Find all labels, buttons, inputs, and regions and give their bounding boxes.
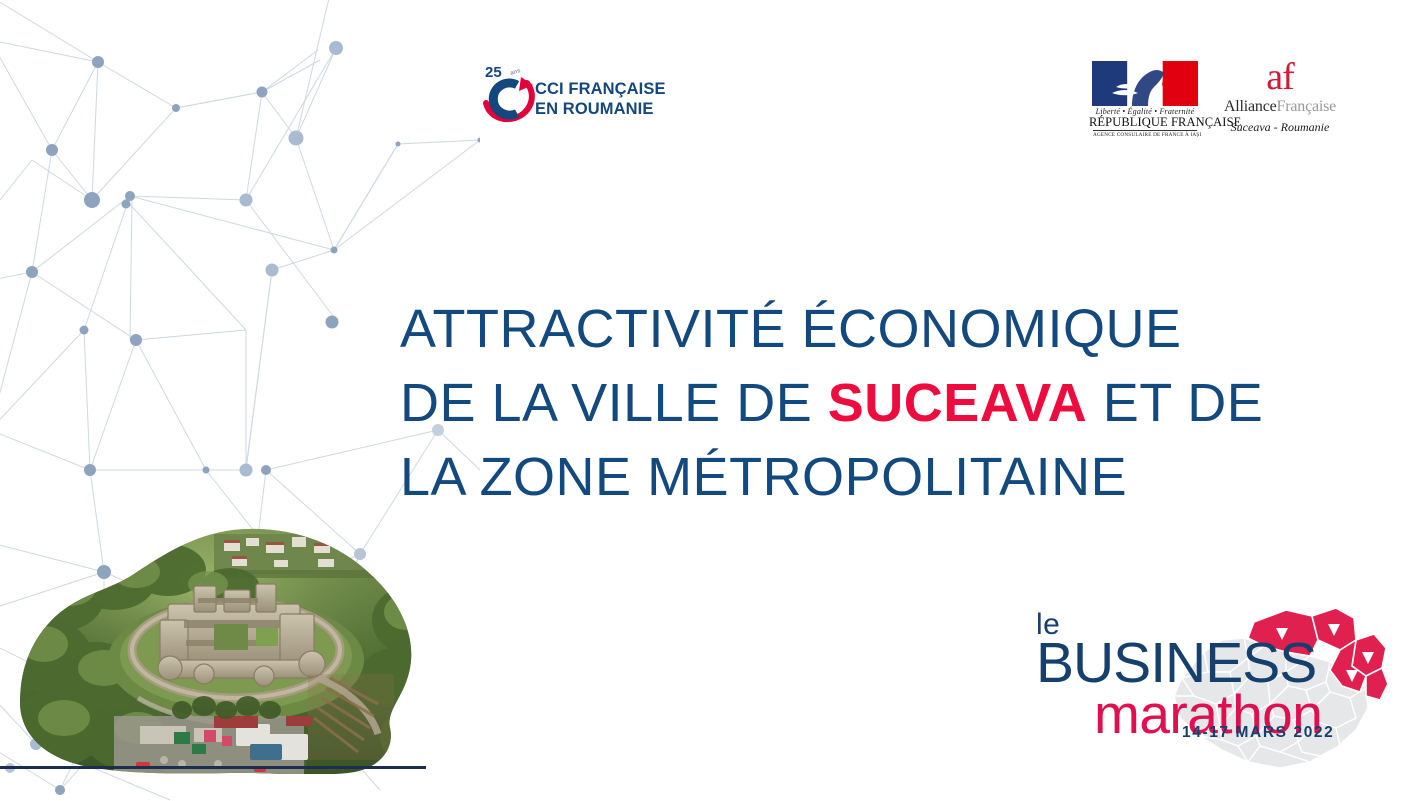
republique-francaise-logo: Liberté • Égalité • Fraternité RÉPUBLIQU…: [1089, 61, 1201, 137]
rf-wordmark: RÉPUBLIQUE FRANÇAISE: [1089, 116, 1201, 129]
title-city-accent: SUCEAVA: [828, 373, 1088, 433]
cci-logo-mark-icon: 25 ans: [483, 63, 543, 125]
cci-francaise-en-roumanie-logo: 25 ans CCI FRANÇAISE EN ROUMANIE: [483, 63, 653, 133]
title-line-2: DE LA VILLE DE SUCEAVA ET DE: [400, 366, 1230, 440]
alliance-francaise-logo: af AllianceFrançaise Suceava - Roumanie: [1218, 57, 1342, 139]
svg-text:ans: ans: [510, 68, 522, 77]
af-wordmark: AllianceFrançaise: [1218, 97, 1342, 116]
af-locale: Suceava - Roumanie: [1218, 119, 1342, 135]
cci-logo-line-2: EN ROUMANIE: [535, 99, 666, 119]
business-marathon-wordmark: le BUSINESS marathon 14-17 MARS 2022: [1022, 596, 1394, 778]
svg-text:25: 25: [485, 64, 502, 81]
title-line-2-prefix: DE LA VILLE DE: [400, 373, 828, 433]
bm-dates: 14-17 MARS 2022: [1182, 724, 1334, 742]
suceava-fortress-aerial-photo: [18, 528, 438, 774]
slide-canvas: ATTRACTIVITÉ ÉCONOMIQUE DE LA VILLE DE S…: [0, 0, 1401, 801]
title-line-3: LA ZONE MÉTROPOLITAINE: [400, 440, 1230, 514]
title-line-2-suffix: ET DE: [1087, 373, 1263, 433]
cci-logo-line-1: CCI FRANÇAISE: [535, 79, 666, 99]
cci-logo-wordmark: CCI FRANÇAISE EN ROUMANIE: [535, 79, 666, 119]
baseline-rule: [0, 766, 426, 769]
french-flag-marianne-icon: [1092, 61, 1198, 106]
le-business-marathon-logo: le BUSINESS marathon 14-17 MARS 2022: [1022, 596, 1394, 778]
rf-agency-line: AGENCE CONSULAIRE DE FRANCE À IAȘI: [1093, 130, 1197, 138]
af-word-francaise: Française: [1277, 98, 1337, 115]
af-word-alliance: Alliance: [1224, 98, 1277, 115]
af-monogram: af: [1218, 57, 1342, 97]
title-line-1: ATTRACTIVITÉ ÉCONOMIQUE: [400, 292, 1230, 366]
page-title: ATTRACTIVITÉ ÉCONOMIQUE DE LA VILLE DE S…: [400, 292, 1230, 514]
